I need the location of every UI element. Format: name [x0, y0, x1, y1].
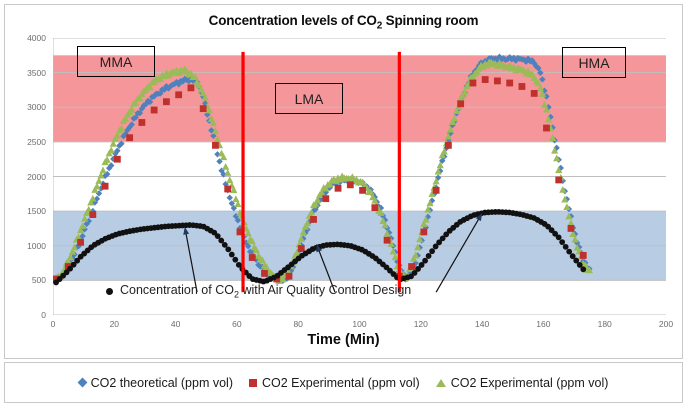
- y-tick-2000: 2000: [8, 172, 46, 182]
- dot-marker: [429, 248, 435, 254]
- x-tick-40: 40: [161, 319, 191, 329]
- square-marker: [494, 78, 501, 85]
- zone-label-mma-text: MMA: [100, 54, 133, 70]
- triangle-marker: [436, 379, 446, 387]
- y-tick-500: 500: [8, 275, 46, 285]
- control-design-caption-text: Concentration of CO2 with Air Quality Co…: [120, 283, 411, 300]
- x-axis-title: Time (Min): [0, 332, 687, 348]
- square-marker: [138, 119, 145, 126]
- legend-label-2: CO2 Experimental (ppm vol): [451, 376, 609, 390]
- zone-label-hma: HMA: [562, 47, 626, 78]
- dot-marker: [422, 258, 428, 264]
- x-tick-80: 80: [283, 319, 313, 329]
- square-marker: [347, 181, 354, 188]
- square-marker: [457, 100, 464, 107]
- plot-area: [53, 38, 666, 315]
- square-marker: [420, 229, 427, 236]
- dot-marker: [563, 244, 569, 250]
- plot-svg: [53, 38, 666, 315]
- square-marker: [482, 76, 489, 83]
- dot-marker: [580, 266, 586, 272]
- square-marker: [151, 107, 158, 114]
- dot-marker: [566, 249, 572, 255]
- y-tick-4000: 4000: [8, 33, 46, 43]
- dot-marker: [229, 252, 235, 258]
- square-marker: [212, 142, 219, 149]
- square-marker: [114, 156, 121, 163]
- square-marker: [89, 211, 96, 218]
- control-design-marker-icon: [106, 288, 113, 295]
- x-tick-100: 100: [345, 319, 375, 329]
- chart-title: Concentration levels of CO2 Spinning roo…: [5, 13, 682, 32]
- x-tick-140: 140: [467, 319, 497, 329]
- square-marker: [555, 177, 562, 184]
- x-tick-160: 160: [528, 319, 558, 329]
- legend-item-2[interactable]: CO2 Experimental (ppm vol): [436, 376, 609, 390]
- y-tick-2500: 2500: [8, 137, 46, 147]
- square-marker: [188, 84, 195, 91]
- square-marker: [298, 245, 305, 252]
- y-tick-1500: 1500: [8, 206, 46, 216]
- y-tick-3500: 3500: [8, 68, 46, 78]
- legend-item-1[interactable]: CO2 Experimental (ppm vol): [249, 376, 420, 390]
- dot-marker: [426, 253, 432, 259]
- square-marker: [310, 216, 317, 223]
- y-tick-3000: 3000: [8, 102, 46, 112]
- square-marker: [249, 254, 256, 261]
- square-marker: [126, 134, 133, 141]
- dot-marker: [559, 239, 565, 245]
- x-tick-60: 60: [222, 319, 252, 329]
- chart-title-suffix: Spinning room: [382, 13, 478, 28]
- chart-legend: CO2 theoretical (ppm vol)CO2 Experimenta…: [4, 362, 683, 403]
- square-marker: [408, 263, 415, 270]
- square-marker: [261, 270, 268, 277]
- zone-label-hma-text: HMA: [578, 55, 609, 71]
- square-marker: [322, 195, 329, 202]
- zone-label-mma: MMA: [77, 46, 155, 77]
- square-marker: [519, 83, 526, 90]
- square-marker: [163, 98, 170, 105]
- control-design-caption: Concentration of CO2 with Air Quality Co…: [106, 283, 411, 300]
- legend-label-0: CO2 theoretical (ppm vol): [91, 376, 233, 390]
- square-marker: [580, 252, 587, 259]
- zone-label-lma-text: LMA: [295, 91, 324, 107]
- square-marker: [249, 379, 257, 387]
- square-marker: [506, 80, 513, 87]
- square-marker: [531, 90, 538, 97]
- dot-marker: [232, 257, 238, 263]
- square-marker: [175, 91, 182, 98]
- chart-title-prefix: Concentration levels of CO: [209, 13, 377, 28]
- square-marker: [543, 125, 550, 132]
- dot-marker: [225, 246, 231, 252]
- legend-item-0[interactable]: CO2 theoretical (ppm vol): [79, 376, 233, 390]
- x-tick-180: 180: [590, 319, 620, 329]
- square-marker: [445, 142, 452, 149]
- dot-marker: [556, 234, 562, 240]
- chart-screenshot: Concentration levels of CO2 Spinning roo…: [0, 0, 687, 407]
- square-marker: [568, 225, 575, 232]
- x-tick-120: 120: [406, 319, 436, 329]
- x-tick-200: 200: [651, 319, 681, 329]
- legend-label-1: CO2 Experimental (ppm vol): [262, 376, 420, 390]
- legend-row: CO2 theoretical (ppm vol)CO2 Experimenta…: [79, 376, 609, 390]
- y-tick-1000: 1000: [8, 241, 46, 251]
- x-tick-0: 0: [38, 319, 68, 329]
- square-marker: [200, 105, 207, 112]
- square-marker: [335, 185, 342, 192]
- diamond-marker: [77, 378, 87, 388]
- square-marker: [371, 204, 378, 211]
- zone-label-lma: LMA: [275, 83, 343, 114]
- square-marker: [433, 187, 440, 194]
- square-marker: [470, 80, 477, 87]
- square-marker: [384, 237, 391, 244]
- square-marker: [224, 186, 231, 193]
- square-marker: [102, 183, 109, 190]
- square-marker: [359, 187, 366, 194]
- x-tick-20: 20: [99, 319, 129, 329]
- square-marker: [286, 273, 293, 280]
- square-marker: [77, 239, 84, 246]
